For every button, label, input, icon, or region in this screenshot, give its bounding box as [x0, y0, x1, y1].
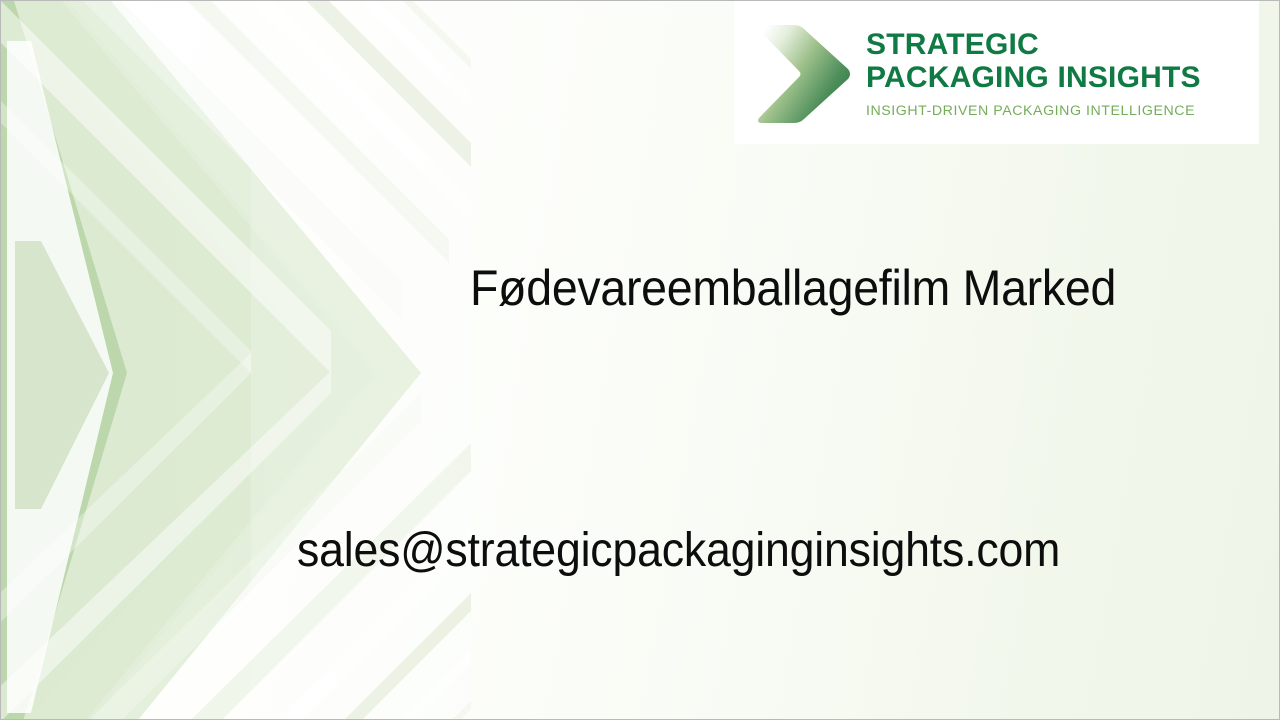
company-logo: STRATEGIC PACKAGING INSIGHTS INSIGHT-DRI… [734, 1, 1259, 144]
stripe-separator [1, 1, 263, 720]
stripe-group-top [1, 1, 471, 373]
stripe-band [1, 1, 151, 720]
contact-email: sales@strategicpackaginginsights.com [297, 523, 1134, 579]
stripe-band [15, 241, 109, 509]
stripe-separator [7, 41, 113, 713]
chevron-arrow-mark-icon [750, 15, 854, 133]
stripe-highlight [1, 1, 379, 720]
chevron-stripes-svg [1, 1, 471, 720]
stripe-band [1, 1, 331, 720]
decorative-chevron-stripes [1, 1, 471, 720]
logo-line-1: STRATEGIC [866, 28, 1201, 61]
stripe-band [1, 1, 421, 720]
stripe-band [1, 1, 259, 720]
slide-canvas: STRATEGIC PACKAGING INSIGHTS INSIGHT-DRI… [0, 0, 1280, 720]
stripe-band [1, 1, 197, 720]
logo-line-2: PACKAGING INSIGHTS [866, 61, 1201, 94]
stripe-band [1, 1, 373, 720]
slide-title: Fødevareemballagefilm Marked [470, 259, 1177, 317]
logo-tagline: INSIGHT-DRIVEN PACKAGING INTELLIGENCE [866, 103, 1201, 119]
logo-wordmark: STRATEGIC PACKAGING INSIGHTS INSIGHT-DRI… [866, 28, 1201, 119]
stripe-band [1, 1, 127, 720]
